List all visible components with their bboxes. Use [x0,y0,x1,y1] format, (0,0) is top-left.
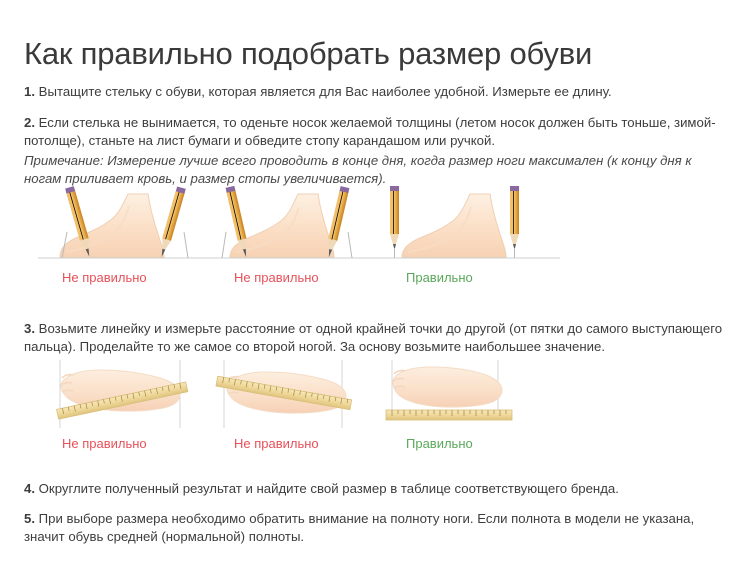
step-1-paragraph: 1. Вытащите стельку с обуви, которая явл… [24,83,730,101]
step-2-paragraph: 2. Если стелька не вынимается, то оденьт… [24,114,730,149]
step-1-number: 1. [24,84,35,99]
foot-top-with-diagonal-ruler-icon [42,358,222,434]
note-paragraph: Примечание: Измерение лучше всего провод… [24,152,730,187]
caption-measuring-2: Не правильно [234,436,319,451]
foot-side-with-tilted-pencils-icon [36,186,216,268]
foot-side-with-slanted-pencils-icon [208,186,388,268]
illustration-row-measuring: Не правильно Не правильно Правильно [0,358,750,454]
step-1-text: Вытащите стельку с обуви, которая являет… [35,84,612,99]
step-3-paragraph: 3. Возьмите линейку и измерьте расстояни… [24,320,730,355]
step-4-number: 4. [24,481,35,496]
illustration-foot-top-crossing-ruler [212,358,392,434]
illustration-foot-side-tilted-pencils [36,186,216,268]
foot-top-with-crossing-ruler-icon [212,358,392,434]
step-2-number: 2. [24,115,35,130]
step-2-text: Если стелька не вынимается, то оденьте н… [24,115,716,148]
step-3-number: 3. [24,321,35,336]
illustration-row-tracing: Не правильно Не правильно Правильно [0,186,750,286]
step-4-text: Округлите полученный результат и найдите… [35,481,619,496]
step-4-paragraph: 4. Округлите полученный результат и найд… [24,480,730,498]
illustration-foot-top-diagonal-ruler [42,358,222,434]
illustration-foot-side-slanted-pencils [208,186,388,268]
caption-tracing-3: Правильно [406,270,473,285]
caption-measuring-1: Не правильно [62,436,147,451]
foot-top-with-straight-ruler-icon [380,358,560,434]
page-root: Как правильно подобрать размер обуви 1. … [0,0,750,564]
illustration-foot-side-vertical-pencils [382,186,562,268]
caption-tracing-2: Не правильно [234,270,319,285]
page-title: Как правильно подобрать размер обуви [24,35,592,73]
foot-side-with-vertical-pencils-icon [382,186,562,268]
caption-measuring-3: Правильно [406,436,473,451]
step-5-number: 5. [24,511,35,526]
step-5-paragraph: 5. При выборе размера необходимо обратит… [24,510,730,545]
step-5-text: При выборе размера необходимо обратить в… [24,511,694,544]
step-3-text: Возьмите линейку и измерьте расстояние о… [24,321,722,354]
illustration-foot-top-straight-ruler [380,358,560,434]
caption-tracing-1: Не правильно [62,270,147,285]
